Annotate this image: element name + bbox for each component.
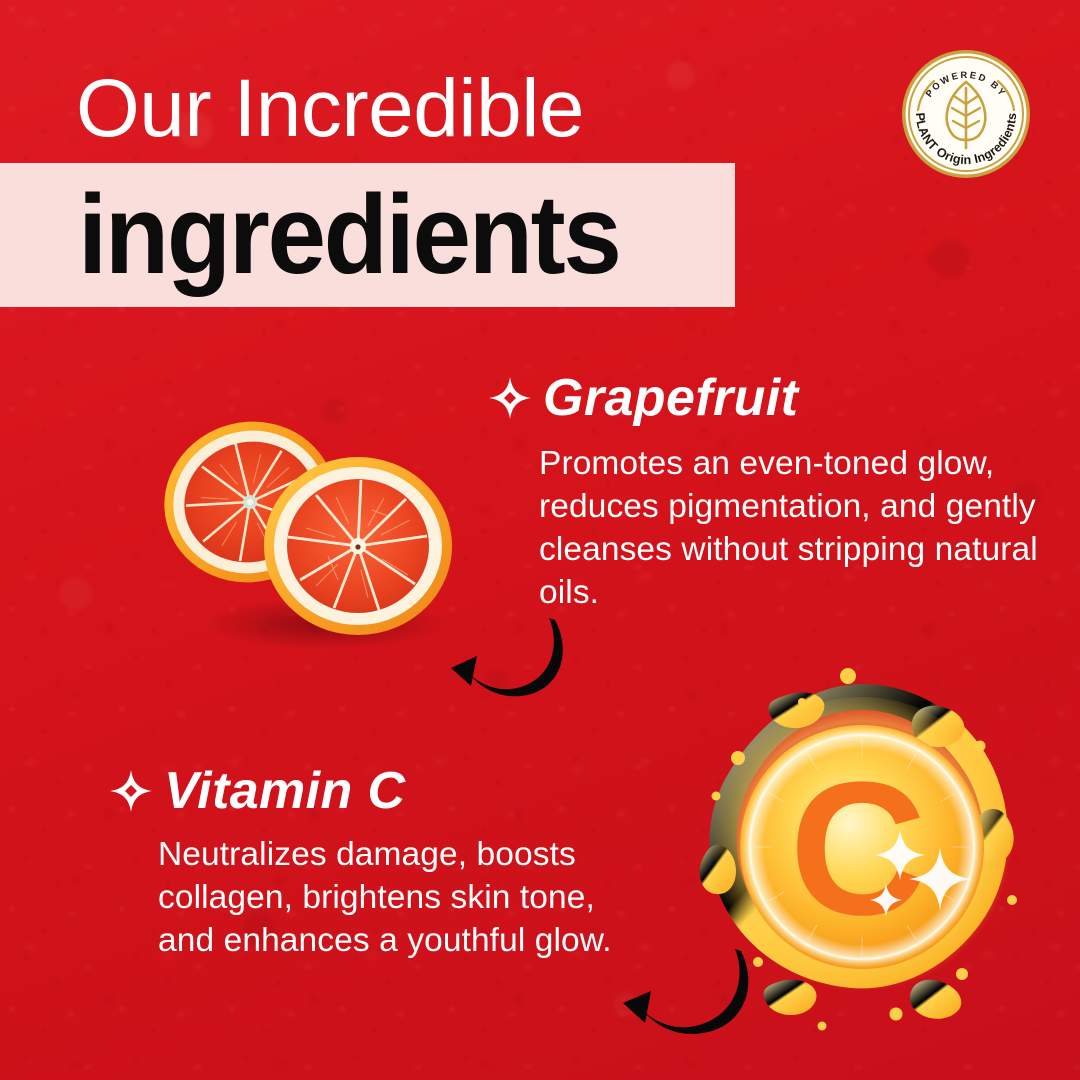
sparkle-icon bbox=[487, 375, 533, 421]
ingredient-name-grapefruit: Grapefruit bbox=[543, 372, 798, 424]
sparkle-icon bbox=[108, 768, 154, 814]
ingredients-poster: Our Incredible ingredients P bbox=[0, 0, 1080, 1080]
ingredient-heading-vitamin-c: Vitamin C bbox=[108, 765, 406, 817]
curved-arrow-to-grapefruit bbox=[425, 612, 605, 702]
ingredient-name-vitamin-c: Vitamin C bbox=[164, 765, 406, 817]
ingredient-description-vitamin-c: Neutralizes damage, boosts collagen, bri… bbox=[158, 833, 658, 962]
ingredient-heading-grapefruit: Grapefruit bbox=[487, 372, 798, 424]
curved-arrow-to-vitamin-c bbox=[595, 945, 775, 1040]
page-title-line2: ingredients bbox=[78, 166, 620, 304]
ingredient-description-grapefruit: Promotes an even-toned glow, reduces pig… bbox=[539, 442, 1039, 614]
page-title-line1: Our Incredible bbox=[76, 68, 584, 150]
plant-origin-badge: POWERED BY PLANT Origin Ingredients bbox=[900, 48, 1032, 180]
